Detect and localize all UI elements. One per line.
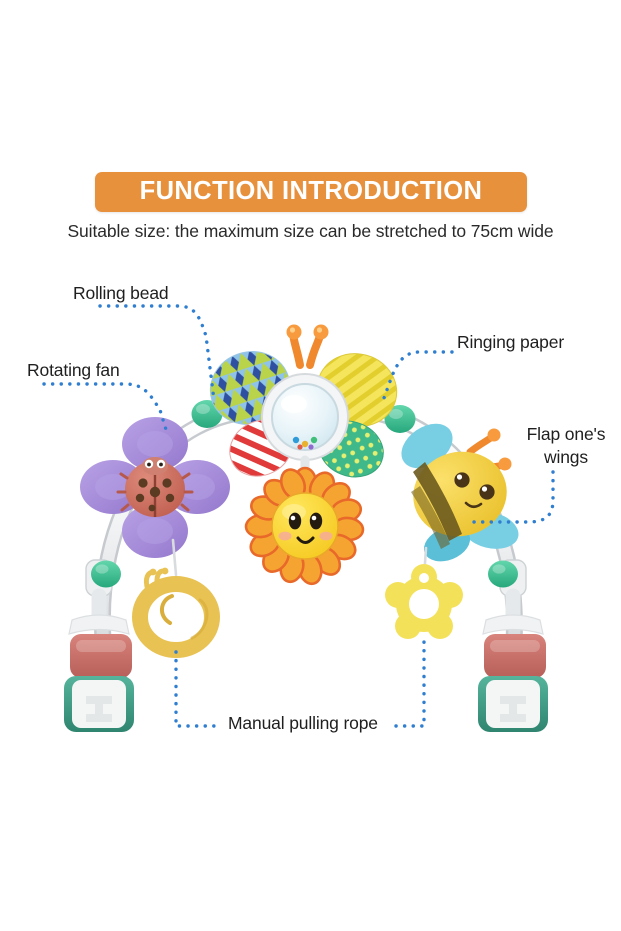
leader-rotating-fan: [44, 384, 168, 436]
leader-rolling-bead: [100, 306, 214, 400]
leader-ringing-paper: [384, 352, 452, 398]
infographic-page: FUNCTION INTRODUCTION Suitable size: the…: [0, 0, 621, 931]
leader-flap-wings: [470, 472, 553, 522]
leader-lines: [0, 0, 621, 931]
leader-manual-rope-left: [176, 652, 220, 726]
leader-manual-rope-right: [396, 638, 424, 726]
